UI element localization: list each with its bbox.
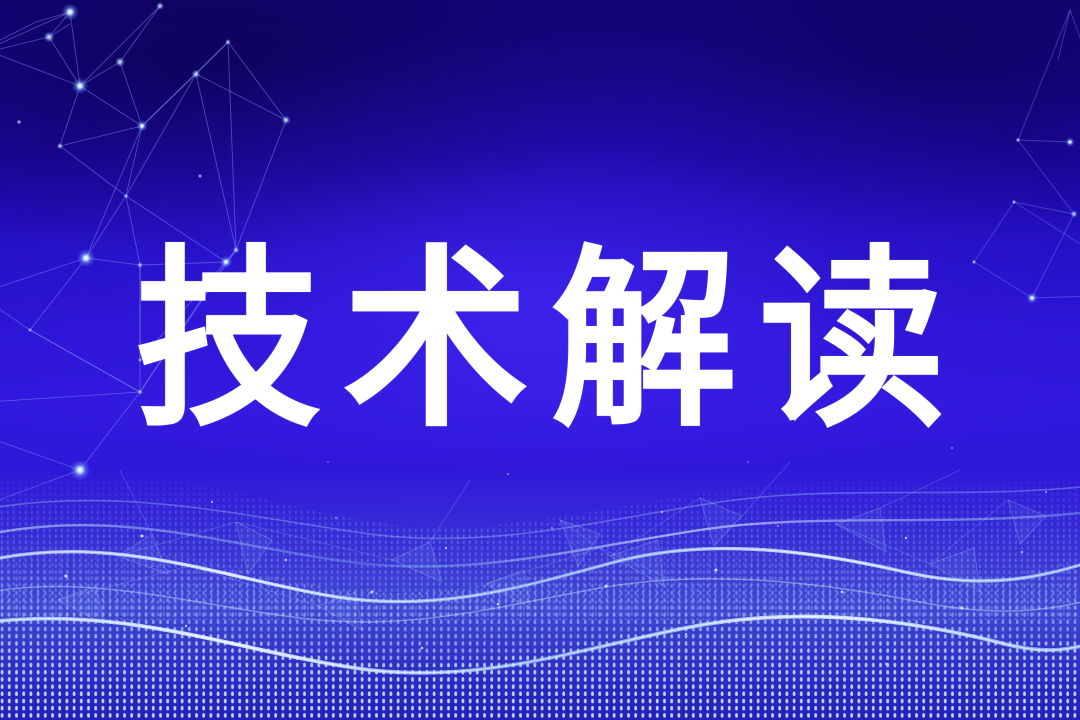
floating-particles [64,447,1047,665]
banner-canvas: 技术解读 [0,0,1080,720]
page-title: 技术解读 [113,244,967,437]
title-block: 技术解读 [0,248,1080,434]
